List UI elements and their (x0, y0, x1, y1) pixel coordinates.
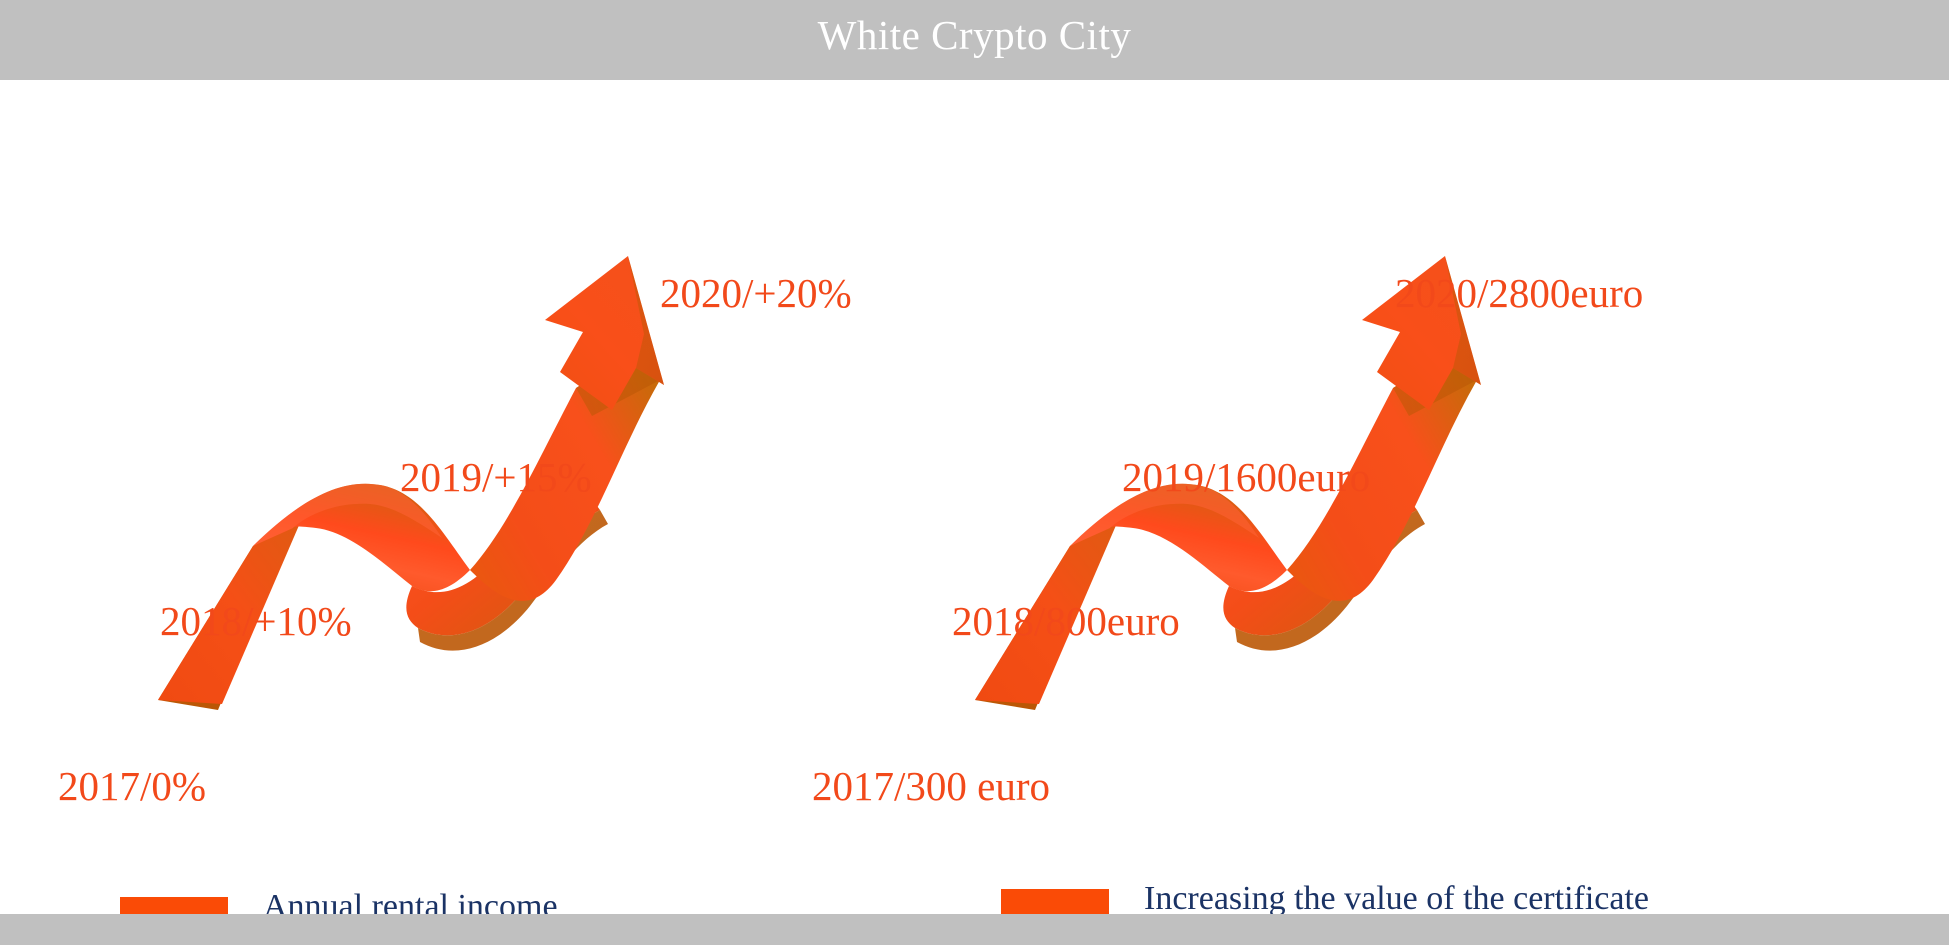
chart-annual-rental-income: 2017/0% 2018/+10% 2019/+15% 2020/+20% (0, 80, 974, 780)
legend-label-line1: Increasing the value of the certificate (1144, 880, 1649, 917)
data-label-2018: 2018/800euro (952, 598, 1180, 644)
upward-trend-arrow-icon (975, 80, 1949, 780)
data-label-2017: 2017/0% (58, 763, 206, 809)
slide-footer-band (0, 914, 1949, 945)
data-label-2020: 2020/2800euro (1395, 270, 1643, 316)
data-label-2020: 2020/+20% (660, 270, 852, 316)
upward-trend-arrow-icon (0, 80, 974, 780)
data-label-2019: 2019/1600euro (1122, 454, 1370, 500)
slide-canvas: White Crypto City (0, 0, 1949, 945)
data-label-2018: 2018/+10% (160, 598, 352, 644)
page-title: White Crypto City (0, 11, 1949, 60)
chart-certificate-value (975, 80, 1949, 780)
data-label-2017: 2017/300 euro (812, 763, 1050, 809)
panel-certificate-value: 2017/300 euro 2018/800euro 2019/1600euro… (975, 80, 1949, 914)
data-label-2019: 2019/+15% (400, 454, 592, 500)
